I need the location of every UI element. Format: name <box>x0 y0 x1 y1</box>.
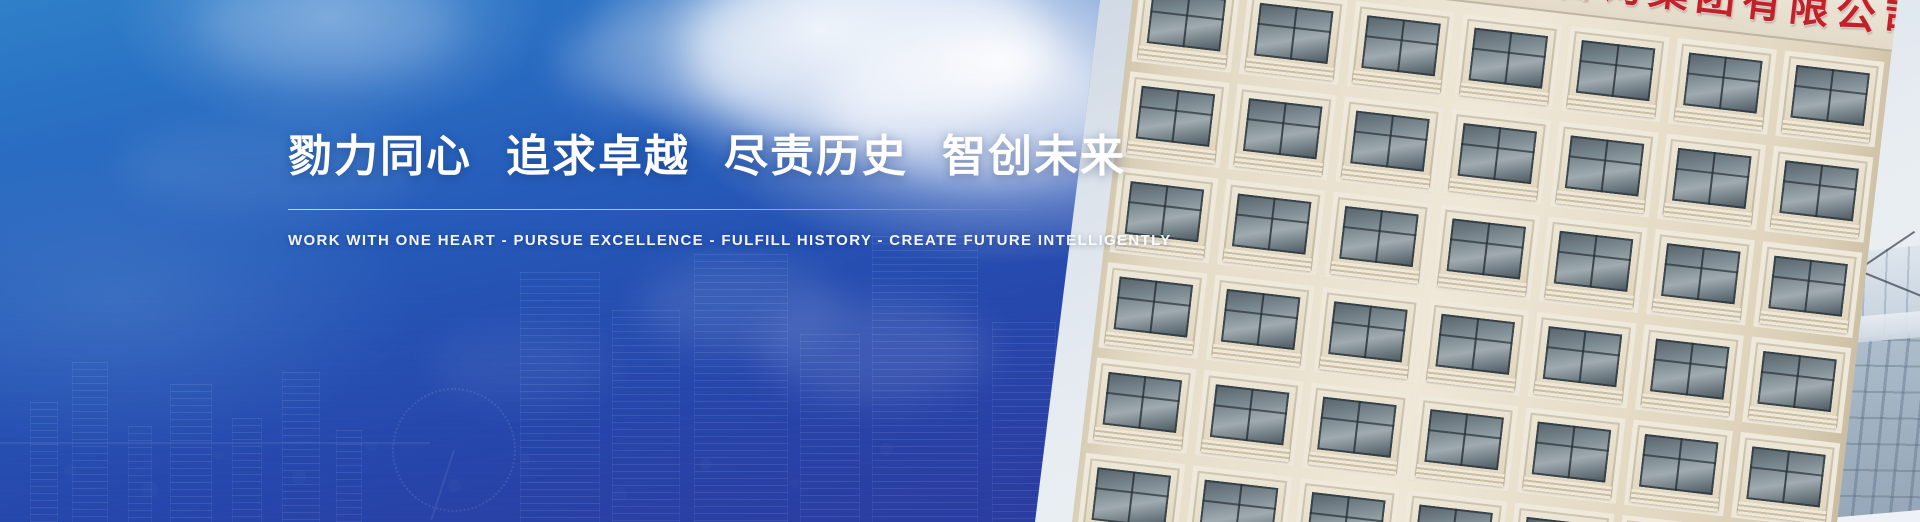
window-bay <box>1291 478 1400 522</box>
window-pane <box>1199 480 1279 522</box>
window-bay <box>1398 490 1507 522</box>
window-pane <box>1435 314 1515 375</box>
bokeh-dot <box>214 450 224 460</box>
window-bay <box>1098 262 1207 359</box>
window-bay <box>1239 0 1348 85</box>
cloud-shape <box>200 0 460 80</box>
window-pane <box>1103 372 1183 433</box>
window-bay <box>1120 71 1229 168</box>
window-pane <box>1543 326 1623 387</box>
window-bay <box>1657 133 1766 230</box>
window-bay <box>1561 26 1670 123</box>
banner-headline: 勠力同心追求卓越尽责历史智创未来 <box>288 132 1048 183</box>
window-pane <box>1532 421 1612 482</box>
window-pane <box>1757 351 1837 412</box>
skyline-tower <box>694 254 788 522</box>
window-pane <box>1221 289 1301 350</box>
window-pane <box>1521 517 1601 522</box>
window-pane <box>1746 446 1826 507</box>
window-pane <box>1328 301 1408 362</box>
window-bay <box>1431 204 1540 301</box>
window-bay <box>1131 0 1240 73</box>
window-pane <box>1790 65 1870 126</box>
bokeh-dot <box>790 478 800 488</box>
window-pane <box>1554 231 1634 292</box>
window-bay <box>1624 420 1733 517</box>
window-bay <box>1335 96 1444 193</box>
skyline-tower <box>612 310 680 522</box>
window-bay <box>1442 109 1551 206</box>
bokeh-dot <box>880 443 893 456</box>
window-bay <box>1775 50 1884 147</box>
window-pane <box>1650 339 1730 400</box>
window-bay <box>1420 299 1529 396</box>
window-pane <box>1469 28 1549 89</box>
window-bay <box>1646 229 1755 326</box>
window-pane <box>1413 504 1493 522</box>
window-bay <box>1409 395 1518 492</box>
skyline-bridge <box>0 442 430 444</box>
skyline-tower <box>170 384 212 522</box>
window-pane <box>1306 492 1386 522</box>
window-pane <box>1457 123 1537 184</box>
window-bay <box>1742 337 1851 434</box>
window-bay <box>1195 370 1304 467</box>
window-bay <box>1539 216 1648 313</box>
window-pane <box>1317 397 1397 458</box>
headline-segment-2: 追求卓越 <box>506 132 690 183</box>
window-pane <box>1254 3 1334 64</box>
bokeh-dot <box>520 454 530 464</box>
window-pane <box>1779 160 1859 221</box>
headline-segment-4: 智创未来 <box>942 132 1126 183</box>
headline-divider <box>288 209 1048 210</box>
bokeh-dot <box>292 470 306 484</box>
window-bay <box>1635 324 1744 421</box>
bokeh-dot <box>448 479 461 492</box>
headline-segment-1: 勠力同心 <box>288 132 472 183</box>
window-pane <box>1683 52 1763 113</box>
window-bay <box>1753 241 1862 338</box>
window-bay <box>1516 407 1625 504</box>
headline-segment-3: 尽责历史 <box>724 132 908 183</box>
banner-subtitle: WORK WITH ONE HEART - PURSUE EXCELLENCE … <box>288 232 1048 249</box>
skyline-tower <box>800 334 860 522</box>
window-pane <box>1672 148 1752 209</box>
window-pane <box>1639 434 1719 495</box>
skyline-tower <box>128 426 152 522</box>
window-pane <box>1136 86 1216 147</box>
ferris-wheel-icon <box>392 388 516 512</box>
window-bay <box>1453 13 1562 110</box>
bokeh-dot <box>700 458 712 470</box>
ghosted-cityscape <box>0 222 1100 522</box>
window-pane <box>1210 384 1290 445</box>
cloud-shape <box>640 260 840 350</box>
skyline-tower <box>30 402 58 522</box>
hero-banner: 天津国际工程咨询集团有限公司 <box>0 0 1920 522</box>
headquarters-building: 天津国际工程咨询集团有限公司 <box>1067 0 1902 522</box>
skyline-tower <box>232 418 262 522</box>
window-bay <box>1087 357 1196 454</box>
skyline-tower <box>336 430 362 522</box>
window-bay <box>1731 432 1840 522</box>
cloud-shape <box>690 0 1050 140</box>
window-pane <box>1768 256 1848 317</box>
bokeh-dot <box>366 441 377 452</box>
cloud-shape <box>430 330 610 400</box>
window-pane <box>1424 409 1504 470</box>
window-bay <box>1505 502 1614 522</box>
window-bay <box>1613 515 1722 522</box>
window-bay <box>1527 312 1636 409</box>
window-bay <box>1324 192 1433 289</box>
window-bay <box>1668 38 1777 135</box>
window-pane <box>1232 194 1312 255</box>
skyline-tower <box>872 236 978 522</box>
window-pane <box>1114 276 1194 337</box>
window-pane <box>1446 218 1526 279</box>
window-bay <box>1228 84 1337 181</box>
window-bay <box>1346 1 1455 98</box>
window-bay <box>1184 465 1293 522</box>
cloud-shape <box>560 10 780 110</box>
window-bay <box>1076 453 1185 522</box>
skyline-tower <box>520 272 600 522</box>
cloud-shape <box>760 300 990 400</box>
window-pane <box>1243 98 1323 159</box>
window-bay <box>1217 179 1326 276</box>
window-pane <box>1576 40 1656 101</box>
building-facade <box>1067 0 1892 522</box>
bokeh-dot <box>64 464 76 476</box>
window-pane <box>1350 111 1430 172</box>
skyline-tower <box>282 372 320 522</box>
window-bay <box>1764 146 1873 243</box>
window-pane <box>1565 135 1645 196</box>
window-bay <box>1313 287 1422 384</box>
skyline-scanlines <box>0 292 1100 522</box>
window-pane <box>1147 0 1227 52</box>
banner-copy: 勠力同心追求卓越尽责历史智创未来 WORK WITH ONE HEART - P… <box>288 132 1048 249</box>
window-pane <box>1361 15 1441 76</box>
window-bay <box>1550 121 1659 218</box>
window-pane <box>1091 467 1171 522</box>
bokeh-dot <box>142 482 158 498</box>
window-pane <box>1661 243 1741 304</box>
window-bay <box>1206 274 1315 371</box>
window-bay <box>1302 382 1411 479</box>
skyline-tower <box>72 362 108 522</box>
window-pane <box>1339 206 1419 267</box>
bokeh-dot <box>612 487 627 502</box>
